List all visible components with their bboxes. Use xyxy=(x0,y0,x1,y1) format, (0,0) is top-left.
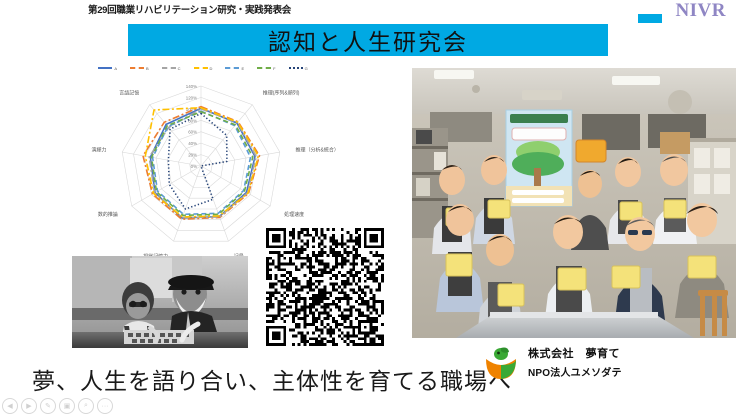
legend-swatch xyxy=(225,67,239,69)
legend-label: A xyxy=(114,66,117,71)
chart-legend-item: E xyxy=(225,66,244,71)
radar-category-label: 数的推論 xyxy=(98,211,118,218)
chart-legend: ABCDEFG xyxy=(18,62,388,74)
radar-tick-label: 0% xyxy=(191,164,197,169)
sprout-logo-icon xyxy=(482,345,520,379)
legend-swatch xyxy=(194,67,208,69)
slide-title-text: 認知と人生研究会 xyxy=(268,23,468,57)
radar-category-label: 推理(序列&順列) xyxy=(263,90,300,97)
radar-tick-label: 80% xyxy=(188,118,197,123)
slide-title-banner: 認知と人生研究会 xyxy=(128,24,608,56)
qr-code[interactable] xyxy=(266,228,384,346)
presentation-slide: 第29回職業リハビリテーション研究・実践発表会 NIVR 認知と人生研究会 AB… xyxy=(0,0,736,416)
legend-label: C xyxy=(178,66,181,71)
legend-swatch xyxy=(257,67,271,69)
chart-legend-item: A xyxy=(98,66,117,71)
company-names: 株式会社 夢育て NPO法人ユメソダテ xyxy=(528,345,622,379)
chart-legend-item: C xyxy=(162,66,181,71)
legend-label: D xyxy=(210,66,213,71)
pen-tool-button[interactable]: ✎ xyxy=(40,398,56,414)
slide-caption: 夢、人生を語り合い、主体性を育てる職場へ xyxy=(32,362,512,396)
next-slide-button[interactable]: ▶ xyxy=(21,398,37,414)
qr-code-image xyxy=(266,228,384,346)
radar-category-label: 推理（分析&統合） xyxy=(296,146,339,153)
nivr-accent-bar xyxy=(638,14,662,23)
radar-tick-label: 40% xyxy=(188,141,197,146)
conference-title: 第29回職業リハビリテーション研究・実践発表会 xyxy=(88,2,291,16)
radar-category-label: 処理速度 xyxy=(284,211,304,218)
radar-tick-label: 120% xyxy=(186,95,197,100)
legend-swatch xyxy=(289,67,303,69)
chart-legend-item: G xyxy=(289,66,308,71)
nivr-logo: NIVR xyxy=(675,1,726,20)
chart-legend-item: F xyxy=(257,66,275,71)
company-name-secondary: NPO法人ユメソダテ xyxy=(528,364,622,379)
chart-legend-item: D xyxy=(194,66,213,71)
radar-series-line xyxy=(168,113,227,209)
legend-swatch xyxy=(130,67,144,69)
zoom-button[interactable]: ⌕ xyxy=(78,398,94,414)
legend-swatch xyxy=(98,67,112,69)
radar-tick-label: 140% xyxy=(186,84,197,89)
legend-label: G xyxy=(305,66,308,71)
legend-label: B xyxy=(146,66,149,71)
bw-photo xyxy=(72,256,248,348)
company-name-primary: 株式会社 夢育て xyxy=(528,345,622,361)
group-photo xyxy=(412,68,736,338)
slide-overview-button[interactable]: ▣ xyxy=(59,398,75,414)
previous-slide-button[interactable]: ◀ xyxy=(2,398,18,414)
radar-tick-label: 60% xyxy=(188,130,197,135)
radar-tick-label: 20% xyxy=(188,153,197,158)
legend-label: F xyxy=(273,66,275,71)
radar-category-label: 演繹力 xyxy=(91,146,106,153)
legend-swatch xyxy=(162,67,176,69)
more-options-button[interactable]: ··· xyxy=(97,398,113,414)
legend-label: E xyxy=(241,66,244,71)
presentation-toolbar[interactable]: ◀▶✎▣⌕··· xyxy=(2,398,113,414)
company-logo-block: 株式会社 夢育て NPO法人ユメソダテ xyxy=(482,342,732,382)
radar-category-label: 言語記憶 xyxy=(119,90,139,97)
chart-legend-item: B xyxy=(130,66,149,71)
